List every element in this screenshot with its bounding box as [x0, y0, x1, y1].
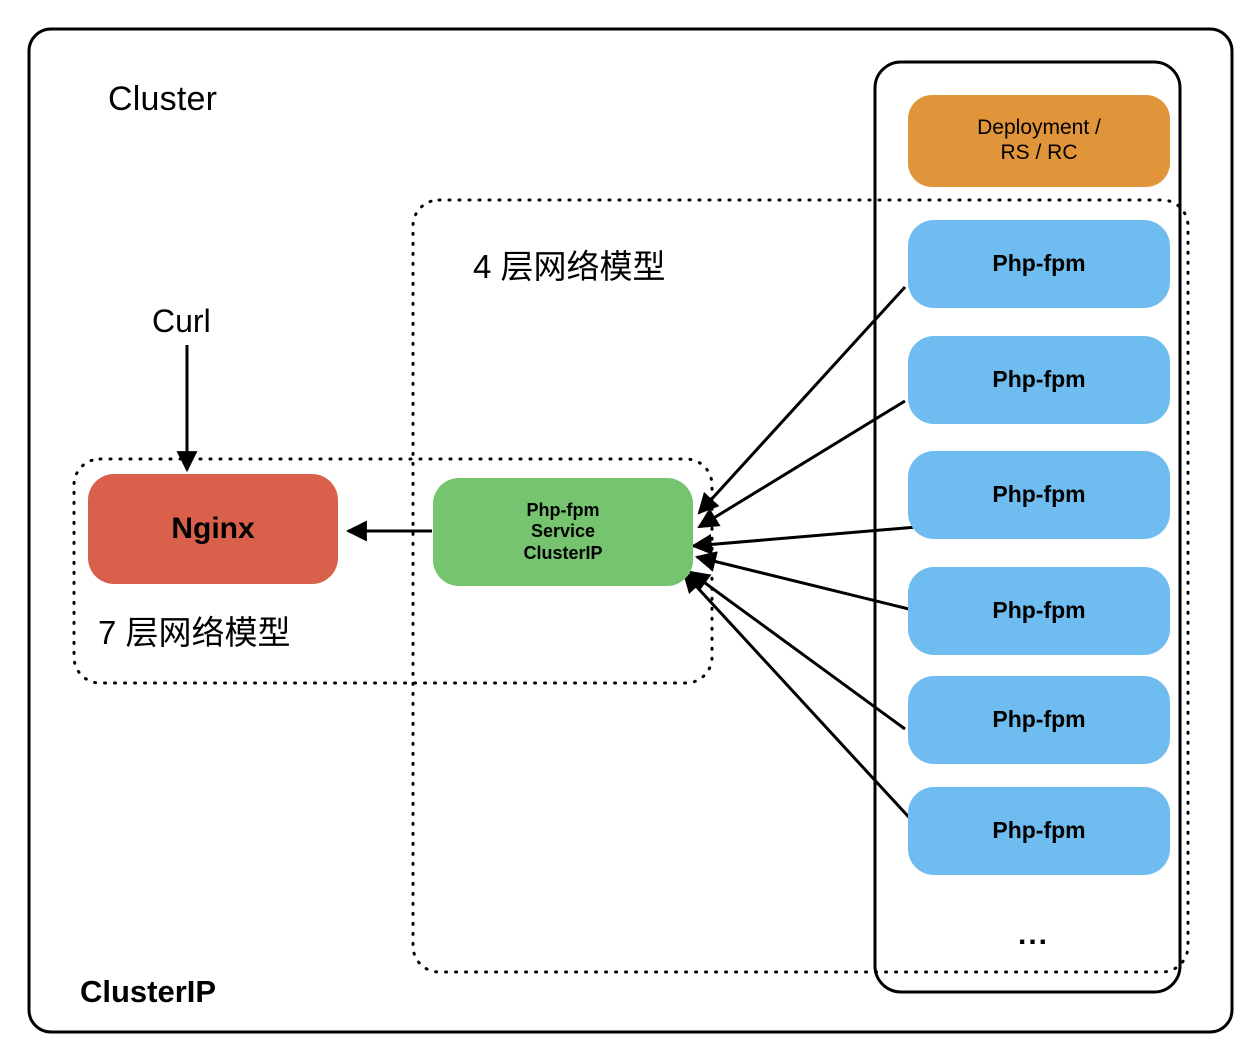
layer4-zone-label: 4 层网络模型 — [473, 240, 666, 288]
diagram-canvas: Cluster Curl 7 层网络模型 4 层网络模型 Nginx Php-f… — [0, 0, 1260, 1060]
node-pod-phpfpm-2[interactable]: Php-fpm — [908, 336, 1170, 424]
node-pod-phpfpm-5[interactable]: Php-fpm — [908, 676, 1170, 764]
clusterip-caption-line-1: ClusterIP — [80, 971, 266, 1012]
service-node-line-2: Service — [531, 521, 595, 542]
node-deployment-rs-rc[interactable]: Deployment / RS / RC — [908, 95, 1170, 187]
arrow-pod-6-to-service — [684, 573, 917, 826]
node-phpfpm-service-clusterip[interactable]: Php-fpm Service ClusterIP — [433, 478, 693, 586]
arrow-pod-3-to-service — [693, 527, 917, 546]
node-pod-phpfpm-3[interactable]: Php-fpm — [908, 451, 1170, 539]
node-pod-phpfpm-1[interactable]: Php-fpm — [908, 220, 1170, 308]
service-node-line-3: ClusterIP — [523, 543, 602, 564]
node-nginx[interactable]: Nginx — [88, 474, 338, 584]
node-pod-phpfpm-4[interactable]: Php-fpm — [908, 567, 1170, 655]
pod-overflow-indicator: ... — [1018, 918, 1049, 952]
page-title: Cluster — [108, 80, 217, 119]
layer7-zone-label: 7 层网络模型 — [98, 606, 291, 654]
deployment-node-line-2: RS / RC — [1000, 141, 1077, 166]
clusterip-caption: ClusterIP 集群内部访问 — [80, 889, 266, 1060]
curl-source-label: Curl — [152, 303, 211, 340]
service-node-line-1: Php-fpm — [527, 500, 600, 521]
deployment-node-line-1: Deployment / — [977, 116, 1101, 141]
node-pod-phpfpm-6[interactable]: Php-fpm — [908, 787, 1170, 875]
arrow-pod-5-to-service — [690, 572, 905, 729]
